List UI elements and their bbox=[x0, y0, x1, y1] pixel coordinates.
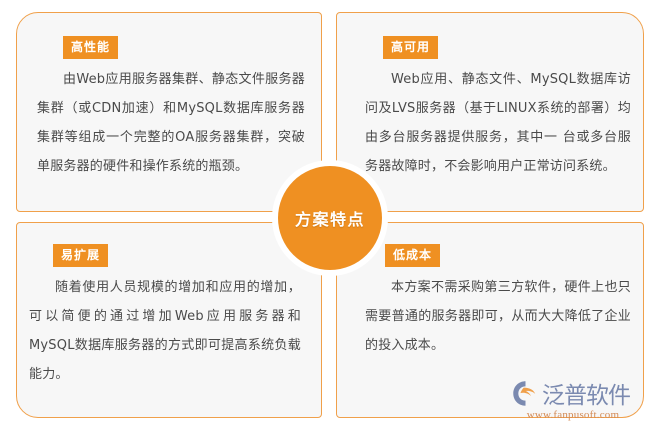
feature-text-high-availability: Web应用、静态文件、MySQL数据库访问及LVS服务器（基于LINUX系统的部… bbox=[365, 65, 631, 181]
center-hub: 方案特点 bbox=[278, 166, 382, 270]
feature-panel-easy-scalability: 易扩展 随着使用人员规模的增加和应用的增加，可以简便的通过增加Web应用服务器和… bbox=[16, 222, 322, 418]
feature-text-high-performance: 由Web应用服务器集群、静态文件服务器集群（或CDN加速）和MySQL数据库服务… bbox=[37, 65, 305, 181]
feature-tag-low-cost: 低成本 bbox=[385, 244, 440, 267]
feature-tag-high-performance: 高性能 bbox=[63, 36, 118, 59]
brand-url: www.fanpusoft.com bbox=[512, 409, 634, 421]
feature-text-easy-scalability: 随着使用人员规模的增加和应用的增加，可以简便的通过增加Web应用服务器和MySQ… bbox=[29, 273, 301, 389]
feature-panel-high-availability: 高可用 Web应用、静态文件、MySQL数据库访问及LVS服务器（基于LINUX… bbox=[336, 12, 644, 212]
feature-text-low-cost: 本方案不需采购第三方软件，硬件上也只需要普通的服务器即可，从而大大降低了企业的投… bbox=[365, 273, 631, 360]
brand-logo: 泛普软件 www.fanpusoft.com bbox=[512, 378, 638, 424]
feature-tag-high-availability: 高可用 bbox=[383, 36, 438, 59]
feature-panel-high-performance: 高性能 由Web应用服务器集群、静态文件服务器集群（或CDN加速）和MySQL数… bbox=[16, 12, 322, 212]
solution-features-infographic: 高性能 由Web应用服务器集群、静态文件服务器集群（或CDN加速）和MySQL数… bbox=[0, 0, 660, 433]
center-hub-label: 方案特点 bbox=[295, 206, 365, 230]
feature-tag-easy-scalability: 易扩展 bbox=[53, 244, 108, 267]
brand-name: 泛普软件 bbox=[542, 376, 630, 410]
fanpu-swoosh-logo-icon bbox=[512, 380, 539, 407]
brand-logo-row: 泛普软件 bbox=[512, 378, 638, 408]
